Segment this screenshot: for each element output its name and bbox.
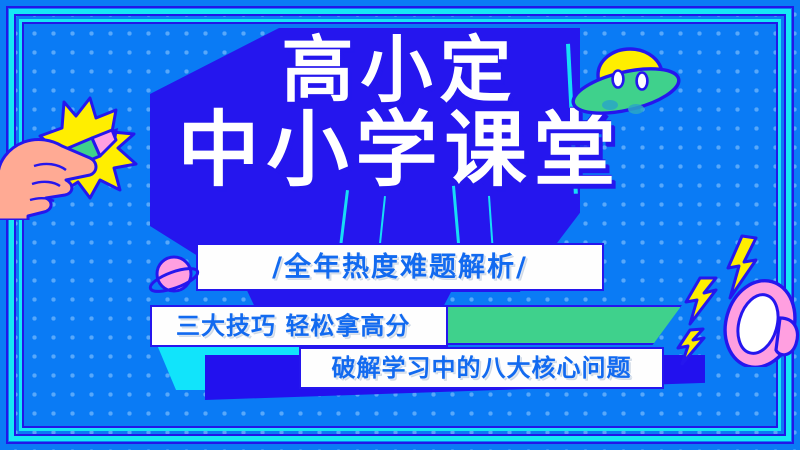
megaphone-icon [676,232,800,367]
planet-icon [148,250,202,304]
banner-highlight-label: /全年热度难题解析/ [272,254,528,281]
banner-skills: 三大技巧 轻松拿高分 [150,305,448,347]
banner-skills-label: 三大技巧 轻松拿高分 [176,314,410,338]
ufo-icon [570,45,690,125]
lightning-bolt-icon [678,329,704,364]
green-parallelogram-shape [437,305,682,345]
lightning-bolt-icon [686,278,716,324]
banner-core-problems-label: 破解学习中的八大核心问题 [332,356,632,380]
banner-highlight: /全年热度难题解析/ [196,243,604,291]
banner-core-problems: 破解学习中的八大核心问题 [299,347,664,389]
promo-poster: 高小定 中小学课堂 /全年热度难题解析/ 三大技巧 轻松拿高分 破解学习中的八大… [0,0,800,450]
hand-pencil-illustration [0,80,174,220]
